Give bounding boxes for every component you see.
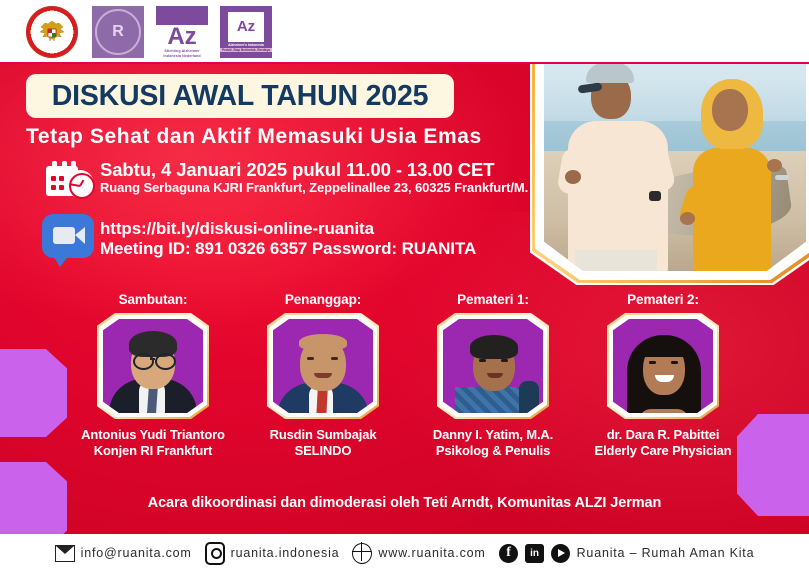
youtube-icon[interactable] [551,543,571,563]
footer-instagram[interactable]: ruanita.indonesia [205,543,340,563]
speaker-role-label: Sambutan: [119,292,188,307]
garuda-bird-icon [37,18,67,46]
photo-woman-hand-right [767,159,782,172]
footer-instagram-text: ruanita.indonesia [231,546,340,560]
footer-website-text: www.ruanita.com [378,546,485,560]
az2-tagline: Peduli, Siap Bertindak, Berdaya [220,48,272,52]
speaker-name: Danny I. Yatim, M.A. [433,427,553,443]
photo-woman-face [712,89,748,131]
event-datetime-block: Sabtu, 4 Januari 2025 pukul 11.00 - 13.0… [44,160,528,198]
photo-man-shorts [575,250,657,271]
speaker-role-label: Pemateri 2: [627,292,699,307]
speaker-name: dr. Dara R. Pabittei [607,427,720,443]
speaker-photo-frame [607,313,719,419]
footer-social[interactable]: f in Ruanita – Rumah Aman Kita [499,543,755,563]
speaker-photo-frame [437,313,549,419]
speaker-card-2: Penanggap: Rusdin Sumbajak SELINDO [248,292,398,492]
speaker-photo-frame [267,313,379,419]
speaker-name: Rusdin Sumbajak [270,427,377,443]
photo-man-hand [565,170,581,184]
poster-subtitle: Tetap Sehat dan Aktif Memasuki Usia Emas [26,125,546,149]
meeting-credentials: Meeting ID: 891 0326 6357 Password: RUAN… [100,239,476,259]
poster-title-pill: DISKUSI AWAL TAHUN 2025 [26,74,454,118]
speaker-card-1: Sambutan: Antonius Yudi Triantoro Konjen… [78,292,228,492]
speaker-subtitle: SELINDO [295,443,352,459]
ruanita-monogram: R [95,9,141,55]
calendar-clock-icon [44,160,96,198]
page-title: DISKUSI AWAL TAHUN 2025 [52,80,429,113]
ruanita-logo: R [92,6,144,58]
footer-social-text: Ruanita – Rumah Aman Kita [577,546,755,560]
facebook-icon[interactable]: f [499,543,519,563]
az-monogram-2: Az [228,12,264,42]
az2-caption: Alzheimer's Indonesia [222,43,270,47]
speaker-photo-rusdin [273,319,373,413]
speakers-row: Sambutan: Antonius Yudi Triantoro Konjen… [78,292,738,492]
footer-email-text: info@ruanita.com [81,546,192,560]
speaker-card-4: Pemateri 2: dr. Dara R. Pabittei Elderly… [588,292,738,492]
online-meeting-block: https://bit.ly/diskusi-online-ruanita Me… [40,212,476,266]
event-venue: Ruang Serbaguna KJRI Frankfurt, Zeppelin… [100,180,528,196]
meeting-link[interactable]: https://bit.ly/diskusi-online-ruanita [100,219,476,239]
speaker-role-label: Pemateri 1: [457,292,529,307]
speaker-role-label: Penanggap: [285,292,361,307]
footer-email[interactable]: info@ruanita.com [55,543,192,563]
photo-woman-torso [693,148,771,271]
garuda-pancasila-emblem [26,6,78,58]
az-monogram: Az [167,25,196,49]
speaker-photo-antonius [103,319,203,413]
speaker-card-3: Pemateri 1: Danny I. Yatim, M.A. Psikolo… [418,292,568,492]
linkedin-icon[interactable]: in [525,543,545,563]
alzheimer-indonesia-nederland-logo: Az Stichting Alzheimer Indonesia Nederla… [156,6,208,58]
video-call-icon [40,212,100,266]
speaker-subtitle: Elderly Care Physician [595,443,732,459]
instagram-icon [205,543,225,563]
photo-woman-bangle [775,175,789,180]
poster-root: R Az Stichting Alzheimer Indonesia Neder… [0,0,809,572]
event-datetime: Sabtu, 4 Januari 2025 pukul 11.00 - 13.0… [100,160,528,179]
coordinator-note: Acara dikoordinasi dan dimoderasi oleh T… [0,495,809,511]
footer-website[interactable]: www.ruanita.com [352,543,485,563]
photo-man-watch [649,191,661,201]
az-caption: Stichting Alzheimer Indonesia Nederland [156,49,208,58]
speaker-subtitle: Psikolog & Penulis [436,443,550,459]
alzheimer-indonesia-logo: Az Alzheimer's Indonesia Peduli, Siap Be… [220,6,272,58]
logo-strip: R Az Stichting Alzheimer Indonesia Neder… [0,0,809,64]
globe-icon [352,543,372,563]
speaker-name: Antonius Yudi Triantoro [81,427,225,443]
speaker-photo-danny [443,319,543,413]
speaker-photo-frame [97,313,209,419]
speaker-photo-dara [613,319,713,413]
decorative-shape-left-top [0,349,67,437]
footer-bar: info@ruanita.com ruanita.indonesia www.r… [0,534,809,572]
photo-man-cap [586,63,634,83]
header-divider [0,62,809,64]
mail-icon [55,543,75,563]
speaker-subtitle: Konjen RI Frankfurt [94,443,213,459]
